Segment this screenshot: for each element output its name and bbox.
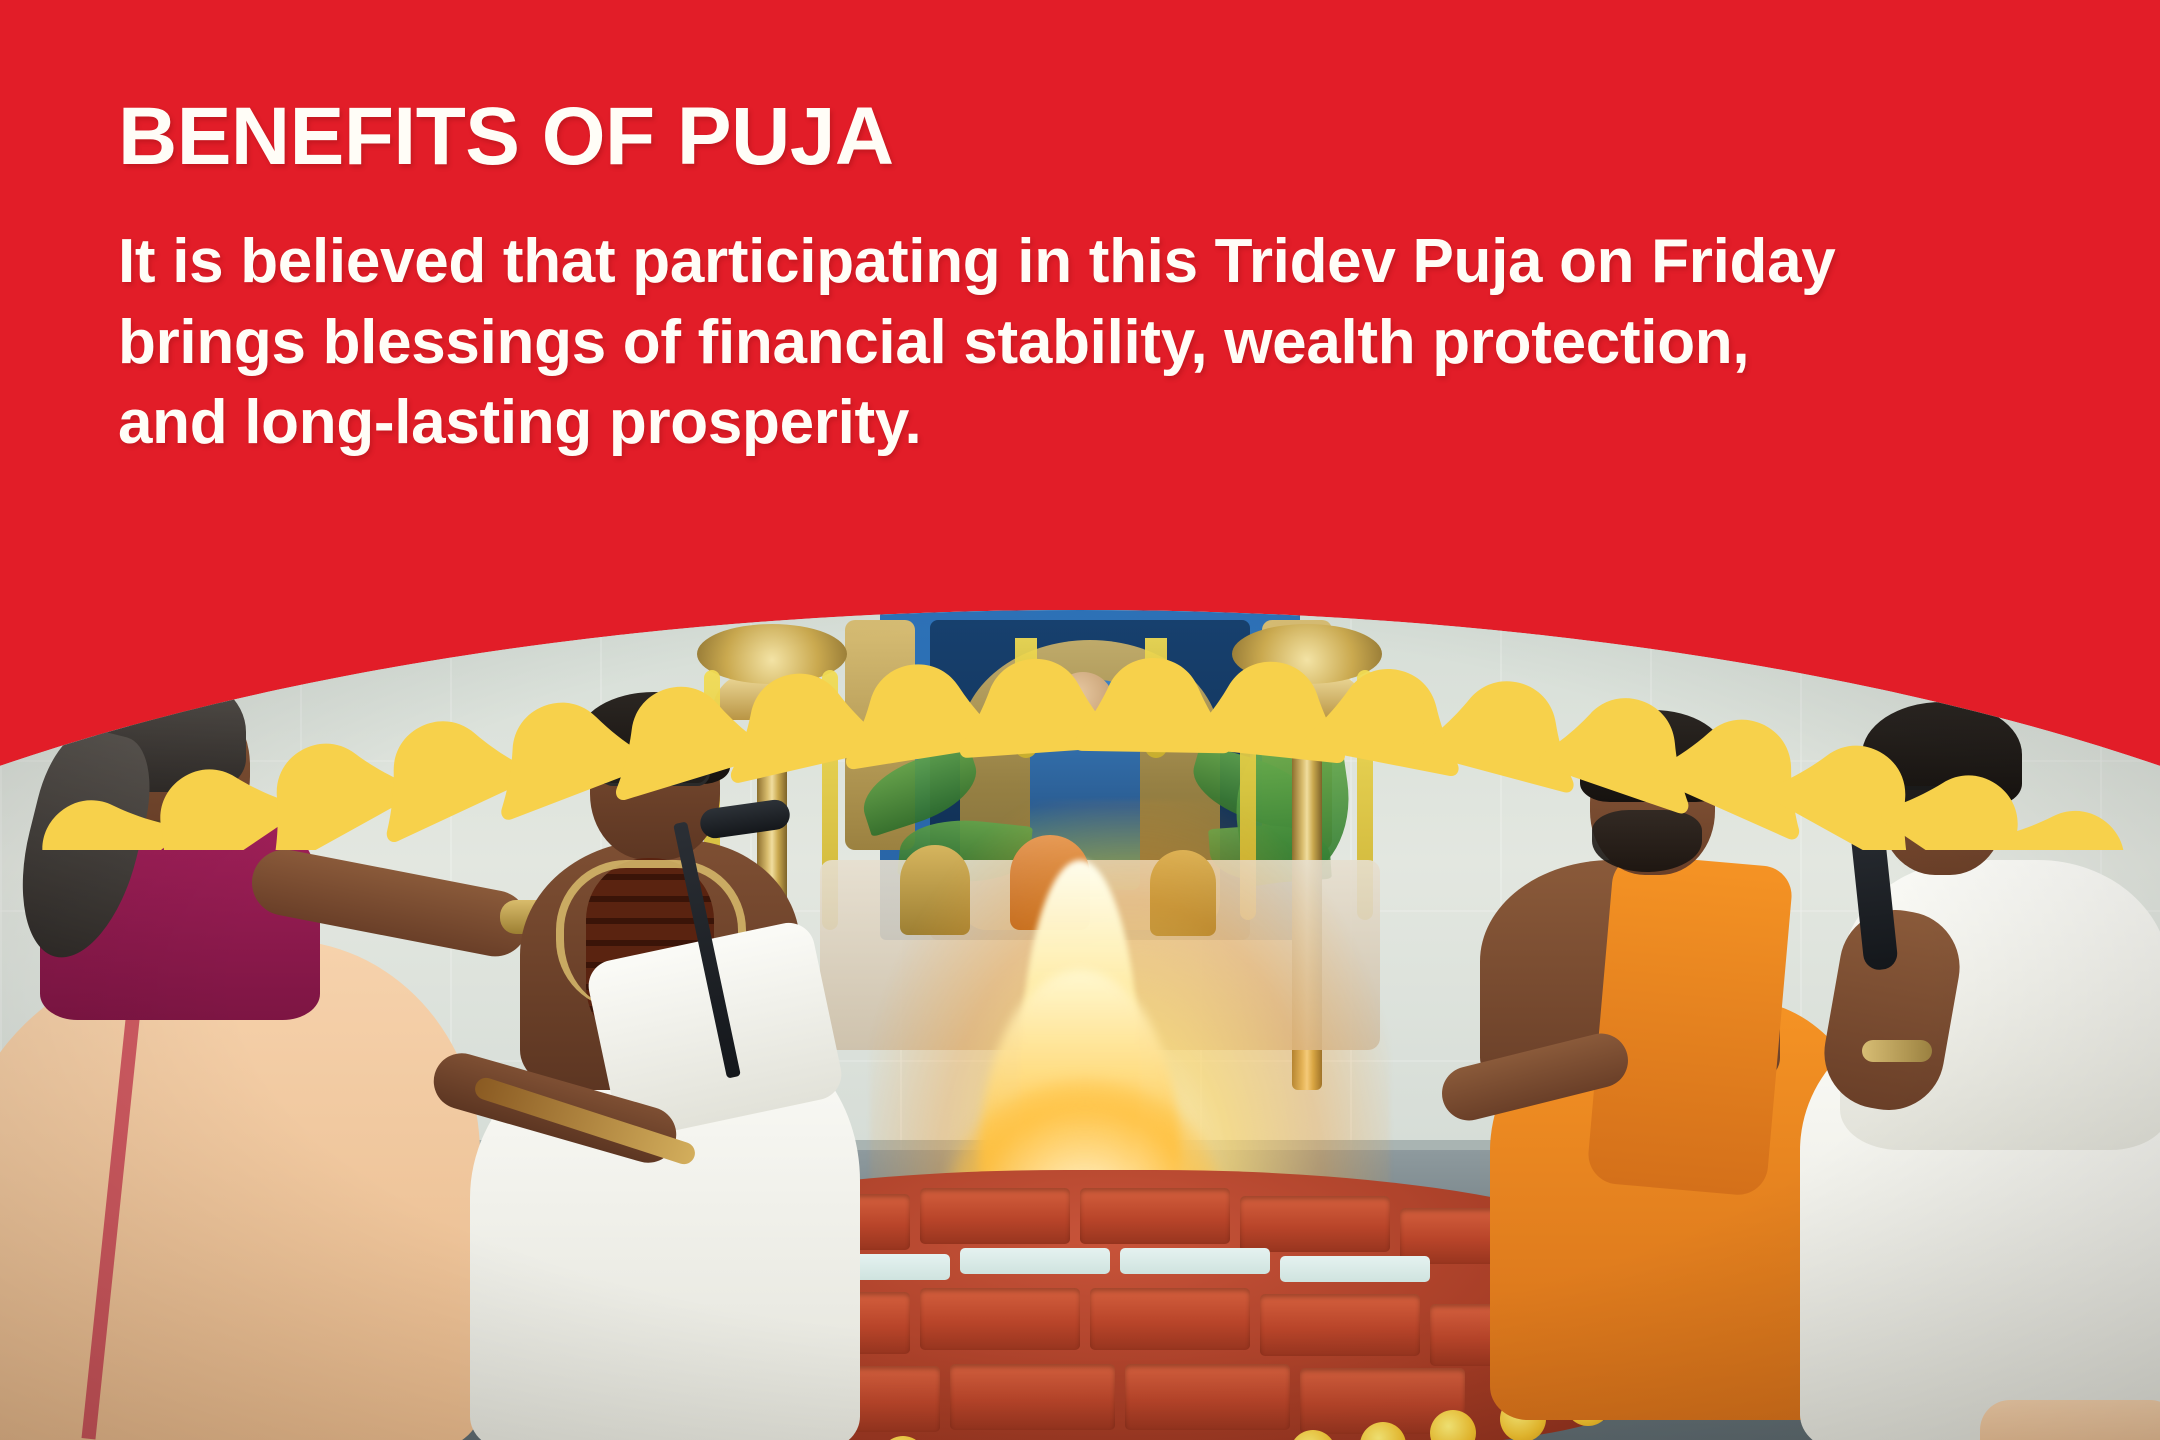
body-paragraph: It is believed that participating in thi… [118, 222, 1858, 464]
puja-photograph [0, 610, 2160, 1440]
photo-vignette [0, 610, 2160, 1440]
page-title: BENEFITS OF PUJA [118, 96, 1908, 178]
text-block: BENEFITS OF PUJA It is believed that par… [118, 96, 1908, 464]
puja-photo-panel [0, 610, 2160, 1440]
puja-benefits-poster: BENEFITS OF PUJA It is believed that par… [0, 0, 2160, 1440]
